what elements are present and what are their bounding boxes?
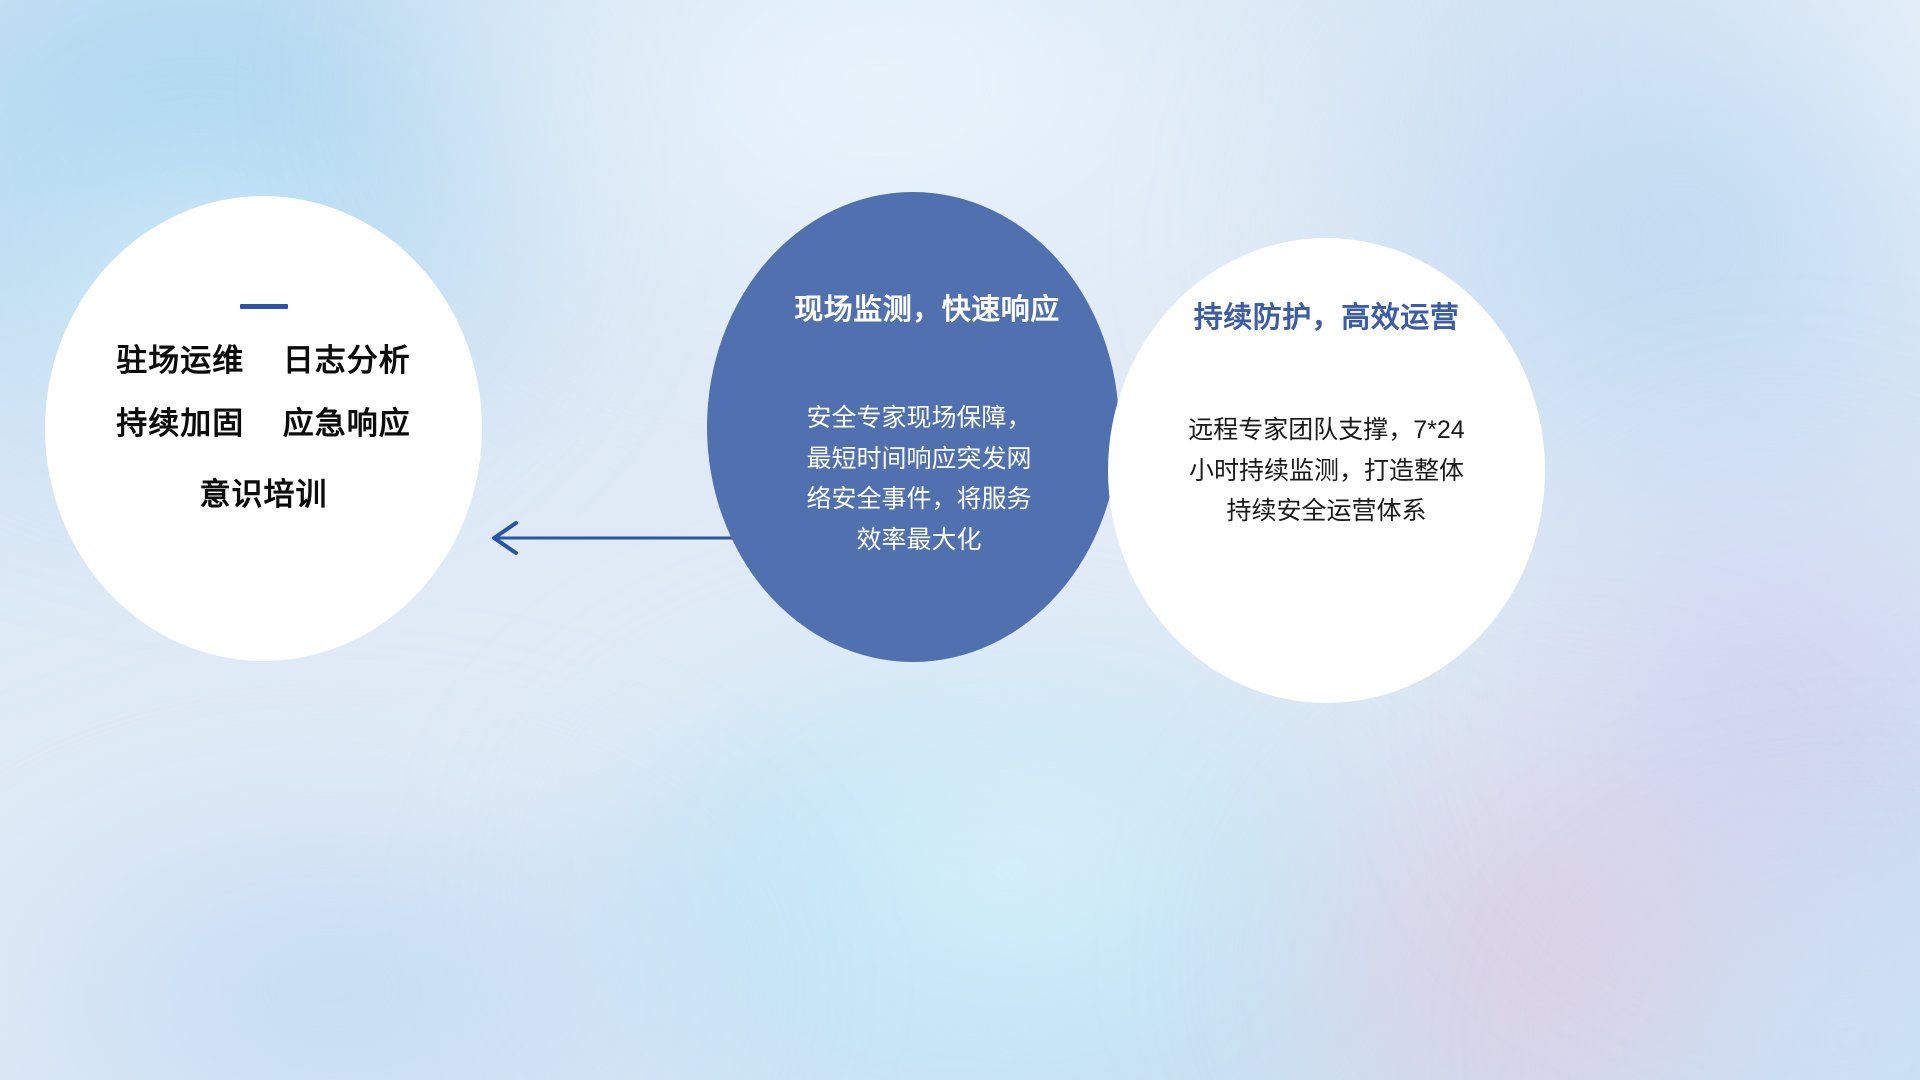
capability-line-3: 意识培训	[200, 479, 328, 510]
body-line: 持续安全运营体系	[1152, 491, 1502, 532]
continuous-protection-body: 远程专家团队支撑，7*24 小时持续监测，打造整体 持续安全运营体系	[1152, 410, 1502, 532]
continuous-protection-circle[interactable]: 持续防护，高效运营 远程专家团队支撑，7*24 小时持续监测，打造整体 持续安全…	[1108, 238, 1545, 703]
body-line: 远程专家团队支撑，7*24	[1152, 410, 1502, 451]
body-line: 络安全事件，将服务	[769, 479, 1069, 520]
capability-line-2: 持续加固 应急响应	[116, 408, 410, 439]
body-line: 最短时间响应突发网	[769, 439, 1069, 480]
onsite-monitoring-body: 安全专家现场保障， 最短时间响应突发网 络安全事件，将服务 效率最大化	[769, 398, 1069, 560]
divider-dash-icon	[240, 304, 288, 309]
onsite-monitoring-title: 现场监测，快速响应	[794, 286, 1060, 328]
capability-circle[interactable]: 驻场运维 日志分析 持续加固 应急响应 意识培训	[45, 196, 482, 661]
onsite-monitoring-circle[interactable]: 现场监测，快速响应 安全专家现场保障， 最短时间响应突发网 络安全事件，将服务 …	[707, 192, 1119, 662]
flow-arrow	[480, 512, 740, 564]
body-line: 安全专家现场保障，	[769, 398, 1069, 439]
continuous-protection-title: 持续防护，高效运营	[1194, 294, 1460, 336]
body-line: 效率最大化	[769, 520, 1069, 561]
slide-canvas: 现场监测，快速响应 安全专家现场保障， 最短时间响应突发网 络安全事件，将服务 …	[0, 0, 1920, 1080]
body-line: 小时持续监测，打造整体	[1152, 451, 1502, 492]
capability-line-1: 驻场运维 日志分析	[116, 345, 410, 376]
